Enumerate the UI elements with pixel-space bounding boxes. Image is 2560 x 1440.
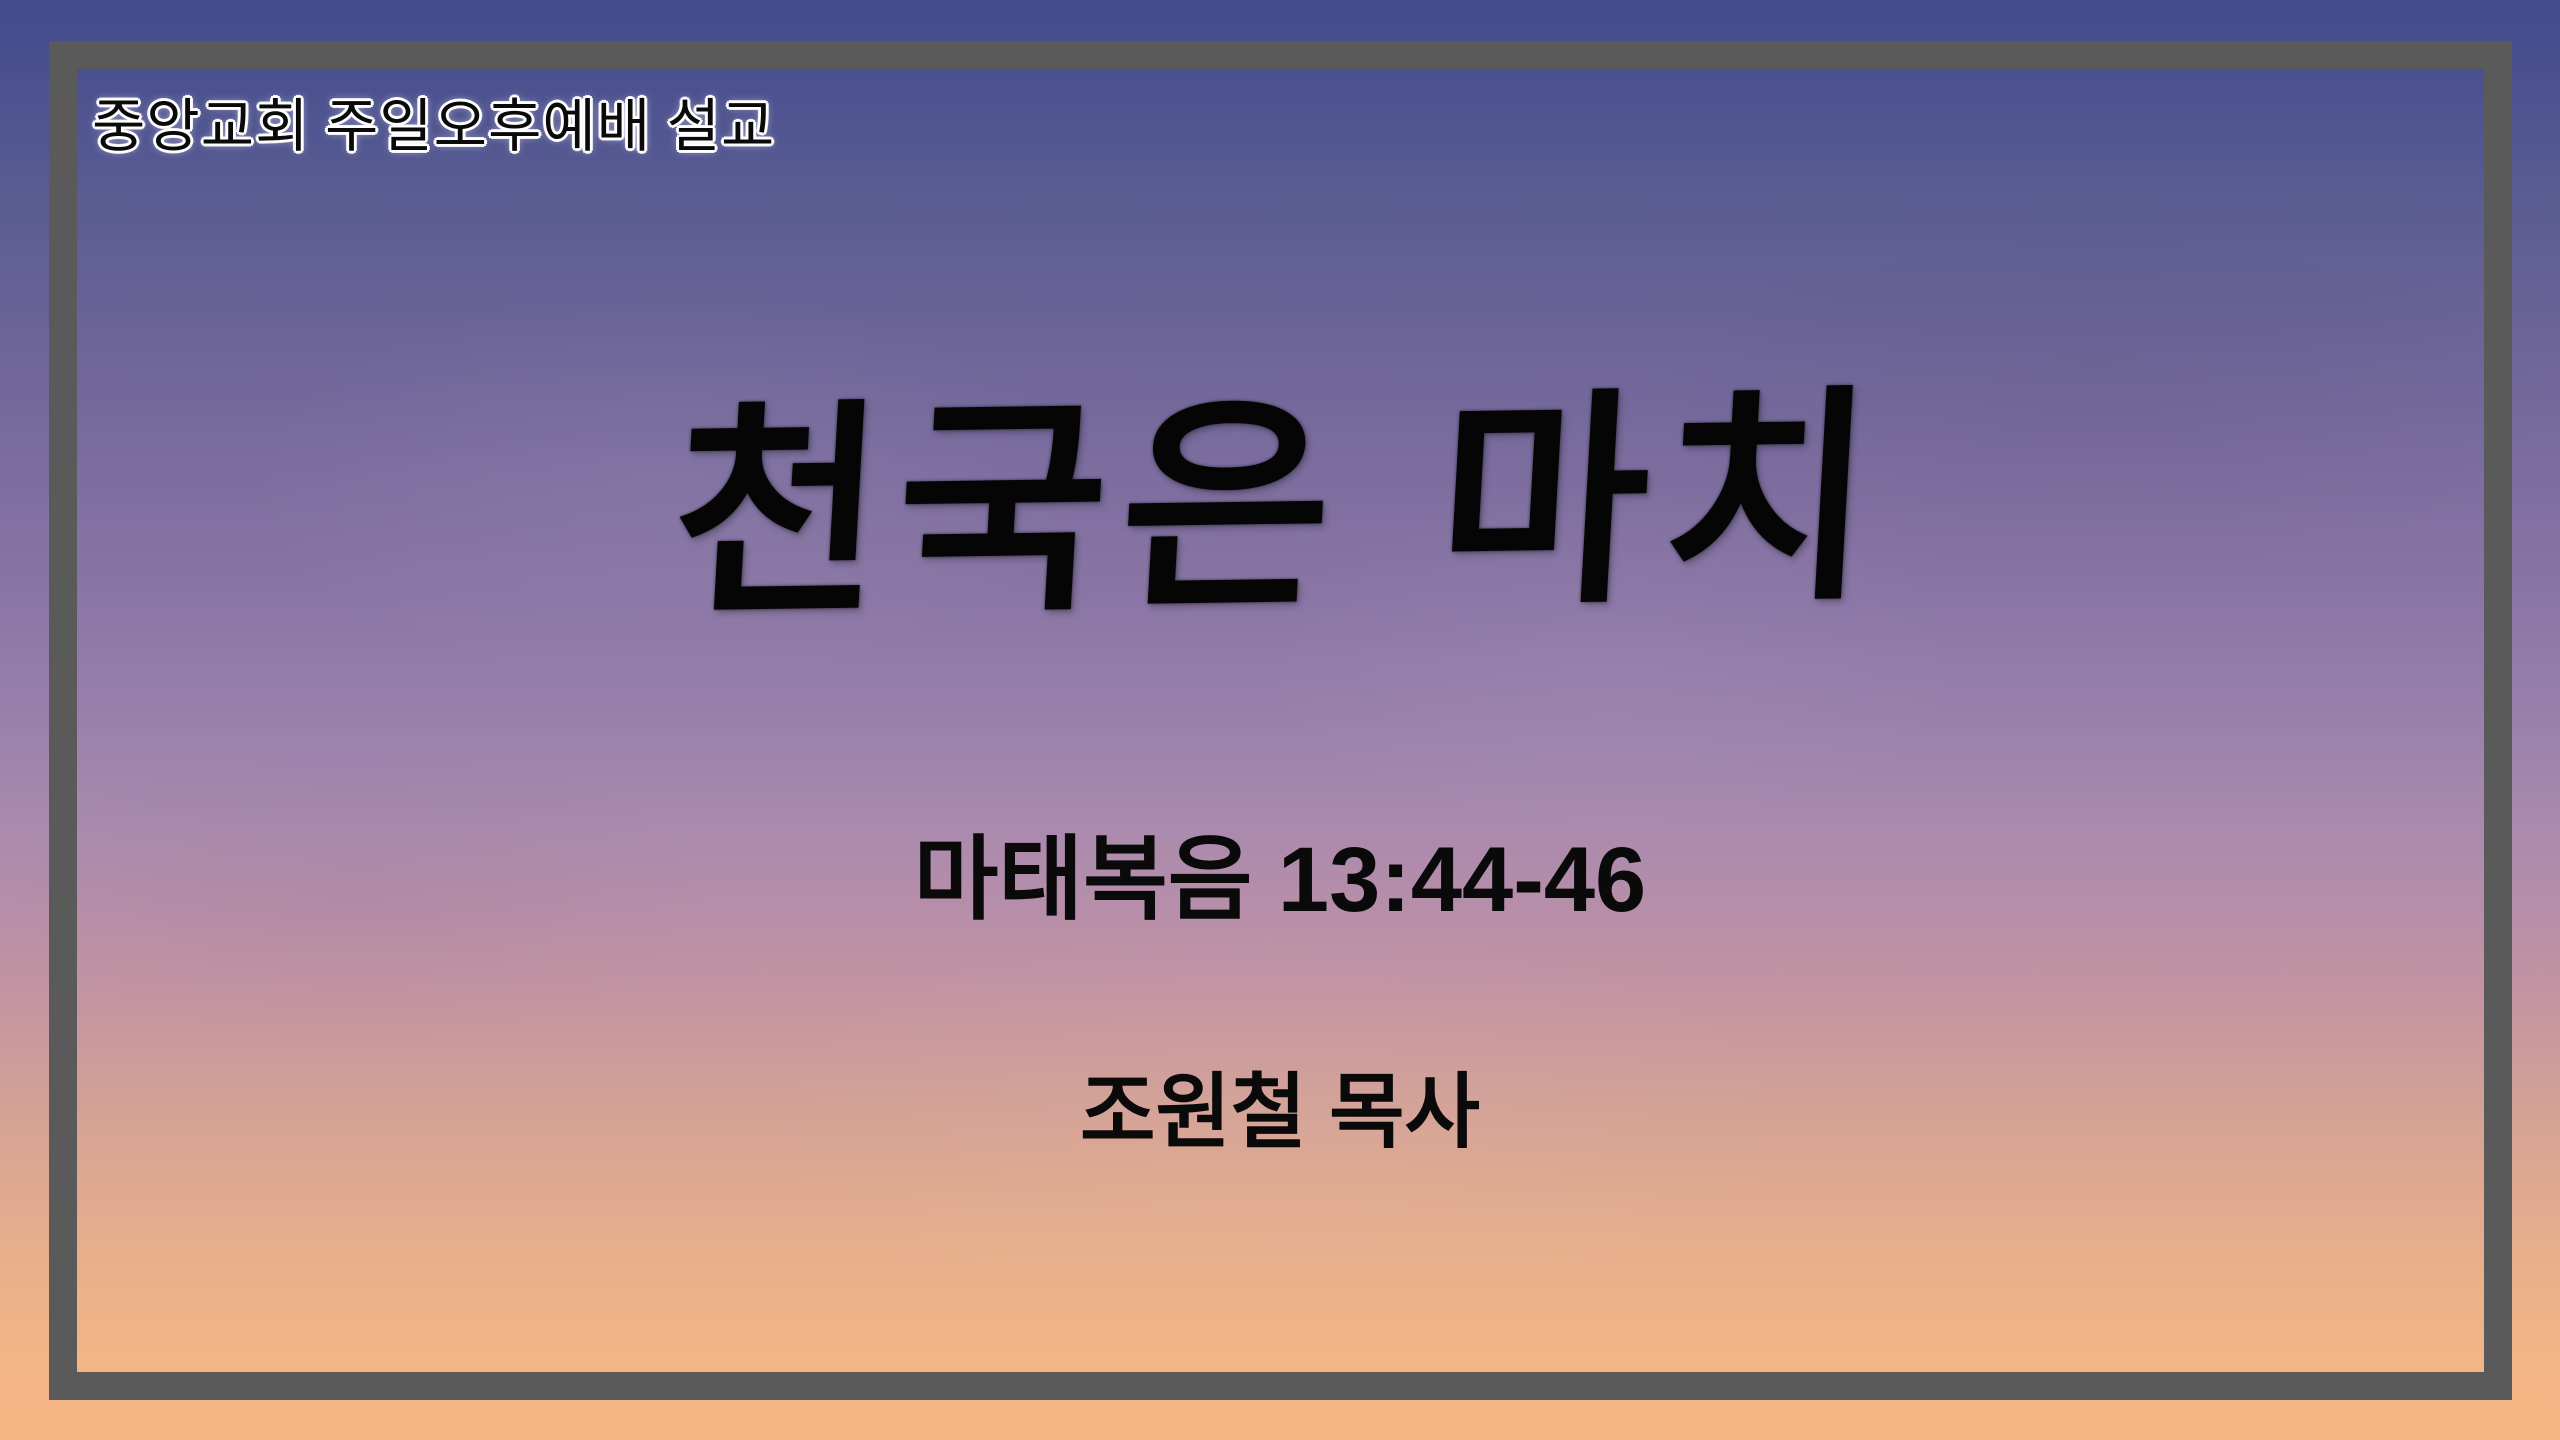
slide-content: 중앙교회 주일오후예배 설교 천국은 마치 마태복음 13:44-46 조원철 … — [0, 0, 2560, 1440]
sermon-title-slide: 중앙교회 주일오후예배 설교 천국은 마치 마태복음 13:44-46 조원철 … — [0, 0, 2560, 1440]
speaker-name: 조원철 목사 — [0, 1058, 2560, 1168]
scripture-reference: 마태복음 13:44-46 — [0, 820, 2560, 940]
sermon-title: 천국은 마치 — [0, 337, 2560, 673]
service-label: 중앙교회 주일오후예배 설교 — [92, 98, 775, 156]
